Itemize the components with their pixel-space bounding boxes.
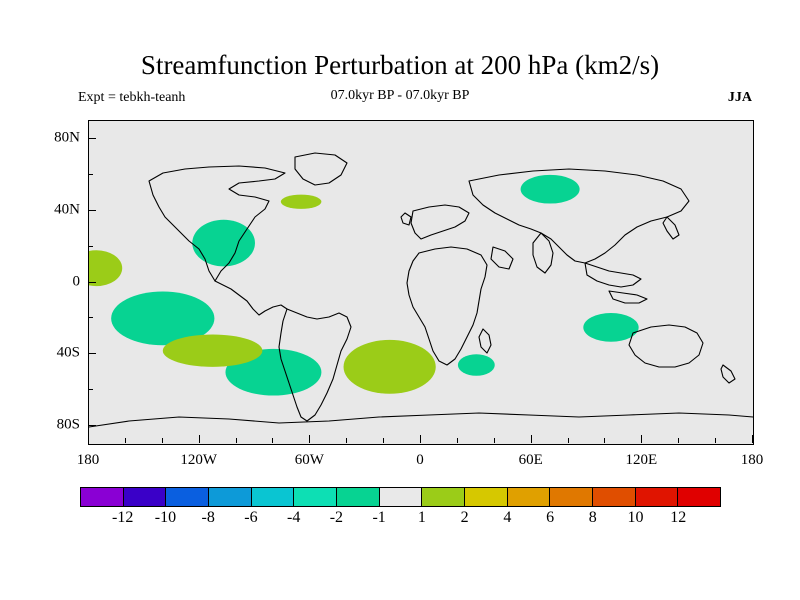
x-axis-label: 180 bbox=[741, 452, 764, 469]
y-tick bbox=[88, 317, 93, 318]
contour-shapes-layer bbox=[89, 175, 639, 396]
colorbar-tick-label: 4 bbox=[503, 509, 511, 527]
contour-blob-east-pacific-central-america-negative bbox=[192, 220, 255, 267]
colorbar-tick-label: -12 bbox=[112, 509, 133, 527]
x-axis-label: 120E bbox=[625, 452, 657, 469]
y-tick bbox=[88, 210, 96, 211]
colorbar-segment[interactable] bbox=[465, 488, 508, 506]
x-axis-label: 120W bbox=[180, 452, 217, 469]
contour-blob-southeast-pacific-positive bbox=[163, 335, 263, 367]
contour-blob-indian-ocean-negative bbox=[583, 313, 638, 342]
x-tick bbox=[494, 438, 495, 443]
colorbar-segment[interactable] bbox=[678, 488, 720, 506]
y-axis-label: 40S bbox=[20, 345, 80, 362]
colorbar-segment[interactable] bbox=[380, 488, 423, 506]
y-tick bbox=[88, 425, 96, 426]
x-tick bbox=[568, 438, 569, 443]
colorbar-tick-label: -8 bbox=[202, 509, 215, 527]
x-tick bbox=[457, 438, 458, 443]
x-tick bbox=[420, 435, 421, 443]
x-tick bbox=[715, 438, 716, 443]
colorbar-tick-label: -10 bbox=[155, 509, 176, 527]
figure-root: Streamfunction Perturbation at 200 hPa (… bbox=[0, 0, 800, 600]
y-tick bbox=[88, 353, 96, 354]
season-label: JJA bbox=[728, 90, 752, 106]
x-tick bbox=[678, 438, 679, 443]
colorbar-tick-label: -6 bbox=[244, 509, 257, 527]
colorbar-segment[interactable] bbox=[252, 488, 295, 506]
map-plot-area bbox=[88, 120, 754, 445]
contour-blob-north-atlantic-positive bbox=[281, 195, 322, 209]
colorbar-tick-label: 2 bbox=[461, 509, 469, 527]
colorbar-tick-label: 12 bbox=[670, 509, 686, 527]
x-tick bbox=[641, 435, 642, 443]
y-tick bbox=[88, 174, 93, 175]
x-tick bbox=[309, 435, 310, 443]
colorbar-tick-label: -4 bbox=[287, 509, 300, 527]
colorbar-segment[interactable] bbox=[124, 488, 167, 506]
y-axis-label: 0 bbox=[20, 273, 80, 290]
world-map-svg bbox=[89, 121, 753, 444]
colorbar-segment[interactable] bbox=[636, 488, 679, 506]
colorbar[interactable] bbox=[80, 487, 721, 507]
colorbar-tick-label: -2 bbox=[330, 509, 343, 527]
colorbar-segment[interactable] bbox=[508, 488, 551, 506]
colorbar-segment[interactable] bbox=[209, 488, 252, 506]
y-axis-label: 80N bbox=[20, 129, 80, 146]
colorbar-segment[interactable] bbox=[337, 488, 380, 506]
colorbar-segment[interactable] bbox=[294, 488, 337, 506]
colorbar-tick-label: 8 bbox=[589, 509, 597, 527]
colorbar-tick-label: 6 bbox=[546, 509, 554, 527]
y-tick bbox=[88, 389, 93, 390]
experiment-label: Expt = tebkh-teanh bbox=[78, 90, 185, 106]
x-tick bbox=[346, 438, 347, 443]
y-tick bbox=[88, 246, 93, 247]
colorbar-segment[interactable] bbox=[81, 488, 124, 506]
colorbar-segment[interactable] bbox=[550, 488, 593, 506]
colorbar-segment[interactable] bbox=[422, 488, 465, 506]
contour-blob-south-atlantic-positive bbox=[344, 340, 436, 394]
x-tick bbox=[383, 438, 384, 443]
colorbar-tick-label: 1 bbox=[418, 509, 426, 527]
x-tick bbox=[125, 438, 126, 443]
x-axis-label: 180 bbox=[77, 452, 100, 469]
colorbar-tick-label: 10 bbox=[628, 509, 644, 527]
contour-blob-eastern-europe-russia-negative bbox=[521, 175, 580, 204]
x-tick bbox=[531, 435, 532, 443]
y-axis-label: 80S bbox=[20, 417, 80, 434]
x-tick bbox=[162, 438, 163, 443]
colorbar-segment[interactable] bbox=[166, 488, 209, 506]
x-tick bbox=[88, 435, 89, 443]
x-tick bbox=[752, 435, 753, 443]
y-axis-label: 40N bbox=[20, 201, 80, 218]
y-tick bbox=[88, 282, 96, 283]
x-tick bbox=[272, 438, 273, 443]
x-tick bbox=[604, 438, 605, 443]
x-axis-label: 60E bbox=[519, 452, 543, 469]
colorbar-tick-label: -1 bbox=[372, 509, 385, 527]
page-title: Streamfunction Perturbation at 200 hPa (… bbox=[0, 50, 800, 81]
contour-blob-south-africa-negative bbox=[458, 354, 495, 376]
y-tick bbox=[88, 138, 96, 139]
x-axis-label: 0 bbox=[416, 452, 424, 469]
x-tick bbox=[236, 438, 237, 443]
x-axis-label: 60W bbox=[295, 452, 324, 469]
x-tick bbox=[199, 435, 200, 443]
colorbar-segment[interactable] bbox=[593, 488, 636, 506]
